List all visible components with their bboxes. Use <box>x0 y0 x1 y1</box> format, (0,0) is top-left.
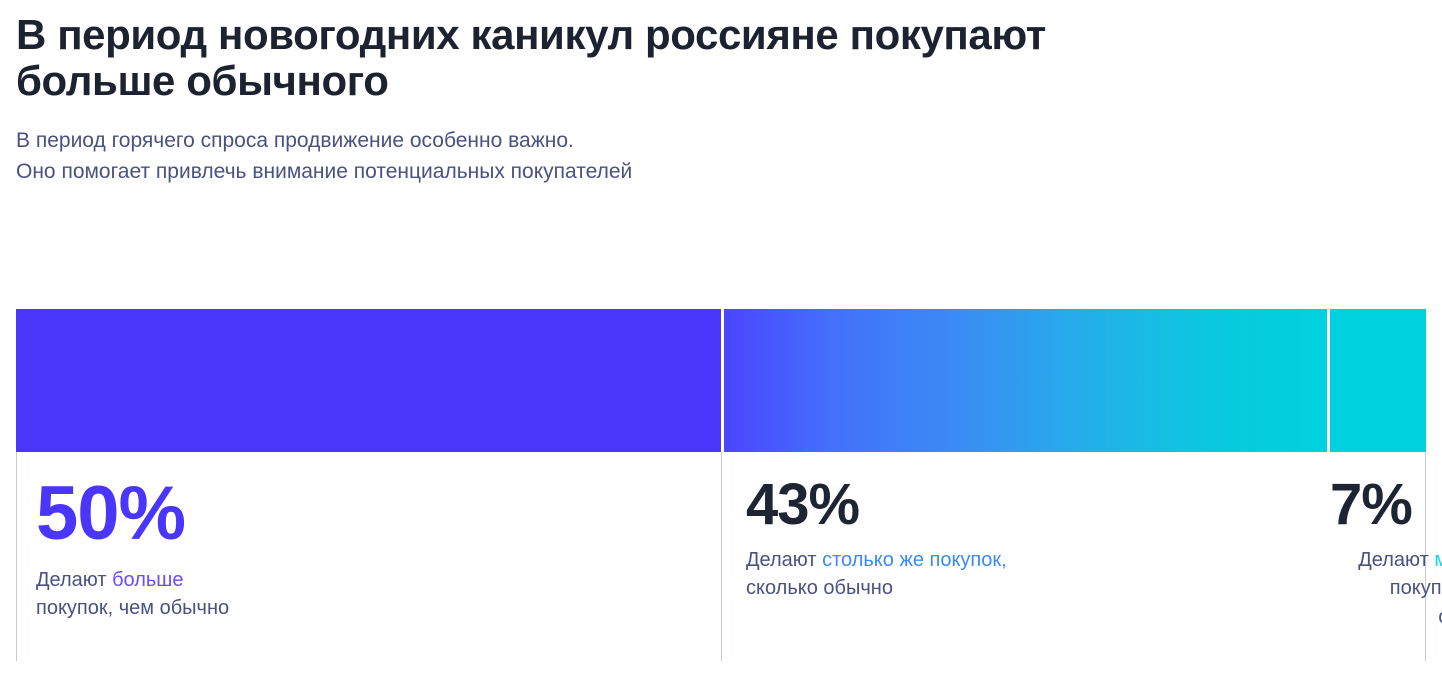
caption-prefix: Делают <box>1358 549 1434 571</box>
caption-line-2: сколько обычно <box>746 574 1330 602</box>
caption-line-1: Делают больше <box>36 566 724 594</box>
stat-value-less: 7% <box>1330 476 1412 534</box>
stat-column-less: 7% Делают меньше покупок, чем обычно <box>1330 452 1442 661</box>
caption-line-1: Делают меньше <box>1330 546 1442 574</box>
stat-column-same: 43% Делают столько же покупок, сколько о… <box>724 452 1330 661</box>
caption-highlight: столько же покупок, <box>822 549 1007 571</box>
subtitle-line-2: Оно помогает привлечь внимание потенциал… <box>16 157 1116 187</box>
caption-prefix: Делают <box>746 549 822 571</box>
stacked-bar-chart: 50% Делают больше покупок, чем обычно 43… <box>16 309 1426 661</box>
page-subtitle: В период горячего спроса продвижение осо… <box>16 126 1116 187</box>
bar-segment-same <box>724 309 1327 452</box>
caption-prefix: Делают <box>36 569 112 591</box>
caption-line-2: покупок, чем обычно <box>1330 574 1442 631</box>
caption-line-1: Делают столько же покупок, <box>746 546 1330 574</box>
stat-caption-more: Делают больше покупок, чем обычно <box>36 566 724 623</box>
stat-caption-same: Делают столько же покупок, сколько обычн… <box>746 546 1330 603</box>
page-title: В период новогодних каникул россияне пок… <box>16 12 1196 104</box>
subtitle-line-1: В период горячего спроса продвижение осо… <box>16 126 1116 156</box>
infographic-page: В период новогодних каникул россияне пок… <box>0 0 1442 679</box>
caption-line-2: покупок, чем обычно <box>36 594 724 622</box>
stat-value-more: 50% <box>36 476 724 552</box>
bar-segment-less <box>1330 309 1426 452</box>
caption-highlight: меньше <box>1434 549 1442 571</box>
stat-columns: 50% Делают больше покупок, чем обычно 43… <box>16 452 1426 661</box>
stat-caption-less: Делают меньше покупок, чем обычно <box>1330 546 1442 631</box>
stat-value-same: 43% <box>746 476 1330 534</box>
bar-track <box>16 309 1426 452</box>
caption-highlight: больше <box>112 569 183 591</box>
bar-segment-more <box>16 309 721 452</box>
stat-column-more: 50% Делают больше покупок, чем обычно <box>16 452 724 661</box>
header: В период новогодних каникул россияне пок… <box>16 0 1426 187</box>
